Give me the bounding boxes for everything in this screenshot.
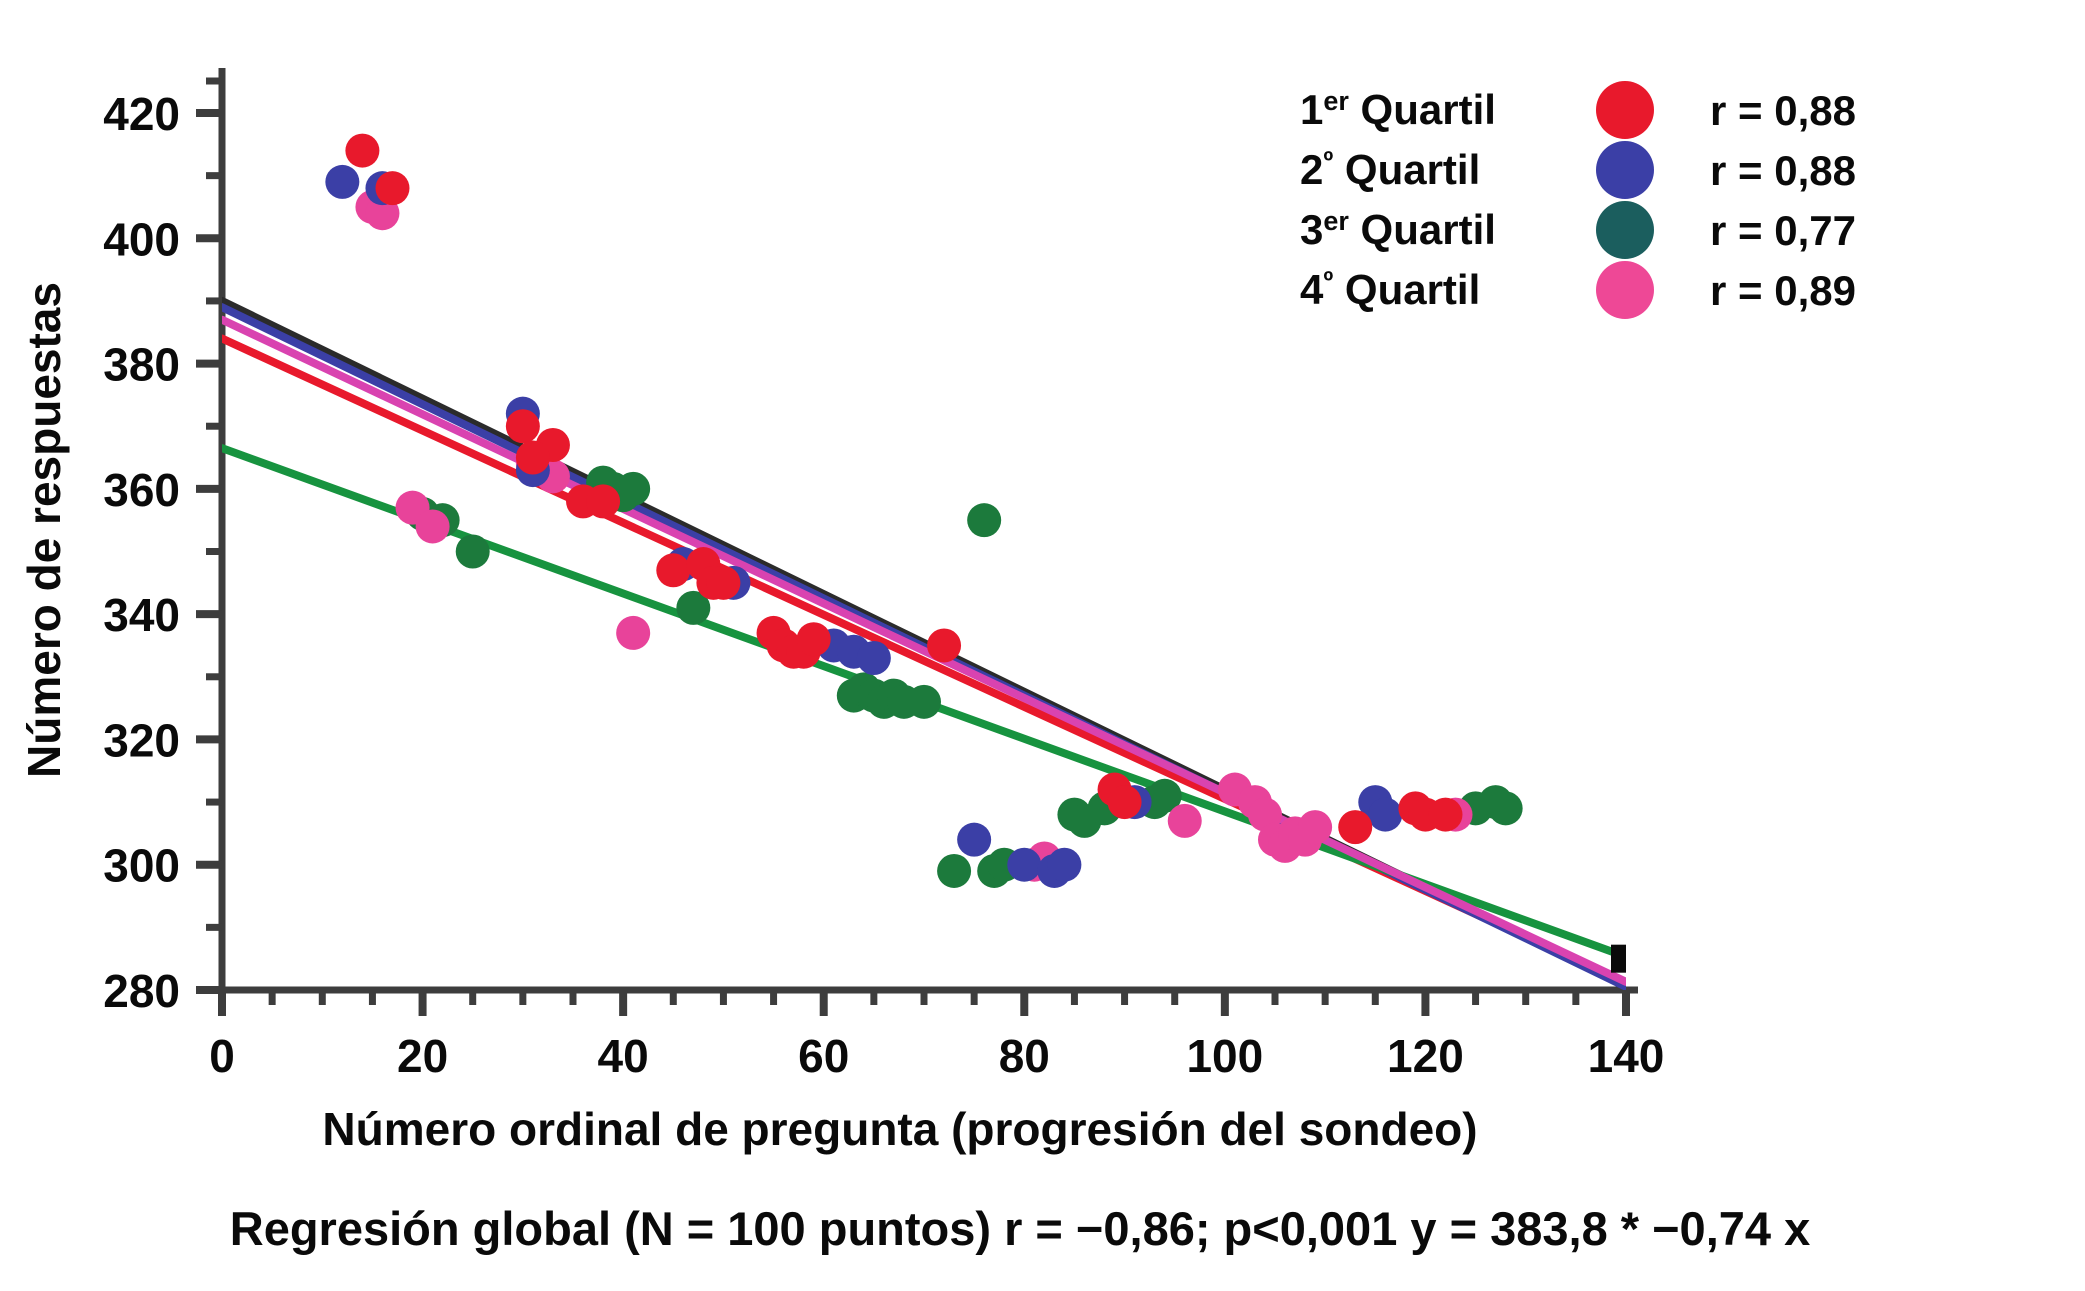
data-point-q1 bbox=[706, 566, 740, 600]
data-point-q4 bbox=[1168, 804, 1202, 838]
data-point-q1 bbox=[345, 134, 379, 168]
x-axis-tick-label: 60 bbox=[798, 1030, 849, 1082]
legend-r-value-3: r = 0,77 bbox=[1710, 207, 1856, 254]
legend-marker-3 bbox=[1596, 201, 1654, 259]
data-point-q1 bbox=[516, 441, 550, 475]
y-axis-tick-label: 360 bbox=[103, 464, 180, 516]
y-axis-tick-label: 400 bbox=[103, 213, 180, 265]
y-axis-tick-label: 300 bbox=[103, 840, 180, 892]
legend-marker-4 bbox=[1596, 261, 1654, 319]
y-axis-tick-label: 280 bbox=[103, 965, 180, 1017]
data-point-q1 bbox=[375, 171, 409, 205]
x-axis-tick-label: 120 bbox=[1387, 1030, 1464, 1082]
data-point-q3 bbox=[937, 854, 971, 888]
x-axis-tick-label: 100 bbox=[1186, 1030, 1263, 1082]
x-axis-tick-label: 20 bbox=[397, 1030, 448, 1082]
data-point-q3 bbox=[456, 535, 490, 569]
chart-figure: 2803003203403603804004200204060801001201… bbox=[0, 0, 2085, 1291]
data-point-q3 bbox=[616, 472, 650, 506]
data-point-q2 bbox=[957, 823, 991, 857]
data-point-q2 bbox=[1007, 848, 1041, 882]
data-point-q1 bbox=[1428, 798, 1462, 832]
data-point-q3 bbox=[907, 685, 941, 719]
data-point-q4 bbox=[416, 509, 450, 543]
data-point-q3 bbox=[1489, 791, 1523, 825]
data-point-q1 bbox=[506, 409, 540, 443]
legend-r-value-4: r = 0,89 bbox=[1710, 267, 1856, 314]
data-point-q1 bbox=[927, 628, 961, 662]
y-axis-tick-label: 420 bbox=[103, 88, 180, 140]
y-axis-tick-label: 380 bbox=[103, 339, 180, 391]
x-axis-tick-label: 140 bbox=[1588, 1030, 1665, 1082]
data-point-q2 bbox=[857, 641, 891, 675]
regression-caption: Regresión global (N = 100 puntos) r = −0… bbox=[230, 1202, 1810, 1255]
legend-r-value-2: r = 0,88 bbox=[1710, 147, 1856, 194]
x-axis-tick-label: 40 bbox=[598, 1030, 649, 1082]
data-point-q1 bbox=[586, 484, 620, 518]
scatter-plot: 2803003203403603804004200204060801001201… bbox=[0, 0, 2085, 1291]
data-point-q4 bbox=[1298, 810, 1332, 844]
x-axis-title: Número ordinal de pregunta (progresión d… bbox=[322, 1103, 1477, 1155]
data-point-q1 bbox=[1108, 785, 1142, 819]
legend-marker-1 bbox=[1596, 81, 1654, 139]
y-axis-title: Número de respuestas bbox=[18, 282, 70, 778]
y-axis-tick-label: 340 bbox=[103, 589, 180, 641]
data-point-q1 bbox=[656, 553, 690, 587]
legend-marker-2 bbox=[1596, 141, 1654, 199]
data-point-q3 bbox=[967, 503, 1001, 537]
y-axis-tick-label: 320 bbox=[103, 714, 180, 766]
data-point-q1 bbox=[797, 622, 831, 656]
data-point-q2 bbox=[1047, 848, 1081, 882]
legend-r-value-1: r = 0,88 bbox=[1710, 87, 1856, 134]
data-point-q4 bbox=[616, 616, 650, 650]
data-point-q2 bbox=[325, 165, 359, 199]
x-axis-tick-label: 80 bbox=[999, 1030, 1050, 1082]
x-axis-tick-label: 0 bbox=[209, 1030, 235, 1082]
data-point-q1 bbox=[1338, 810, 1372, 844]
data-point-q2 bbox=[1368, 798, 1402, 832]
